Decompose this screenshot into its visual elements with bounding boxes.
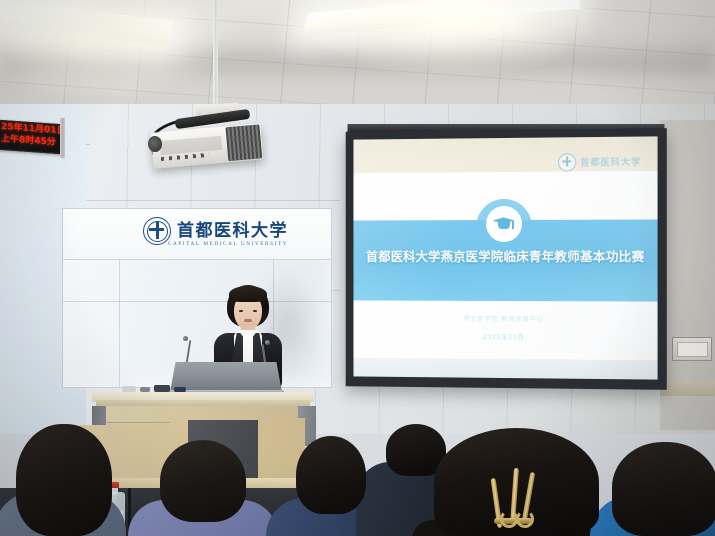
speaker-eye-left xyxy=(239,310,243,312)
slide-university-logo: 首都医科大学 xyxy=(558,152,641,171)
projector-label xyxy=(159,136,222,155)
microphone-head-2 xyxy=(265,340,270,345)
slide-subtitle: 燕京医学院 教师发展中心 xyxy=(353,314,657,325)
projector-mount-pipe xyxy=(213,0,218,108)
university-crest-icon xyxy=(143,217,171,245)
audience-hair-2 xyxy=(160,440,246,522)
speaker-mouth xyxy=(244,319,252,322)
ceiling xyxy=(0,0,715,120)
led-clock-display: 25年11月01日 上午8时45分 xyxy=(0,120,62,154)
podium-item-3 xyxy=(154,385,170,392)
audience-head-2 xyxy=(160,440,246,522)
graduation-cap-icon xyxy=(493,216,515,232)
audience-head-1 xyxy=(16,424,112,536)
audience-hair-3 xyxy=(296,436,366,514)
projection-screen-surface: 首都医科大学 首都医科大学燕京医学院临床青年教师基本功比赛 燕京医学院 教师发展… xyxy=(353,136,657,379)
slide-crest-icon xyxy=(558,153,576,171)
university-name-en: CAPITAL MEDICAL UNIVERSITY xyxy=(168,241,288,247)
projection-screen-frame: 首都医科大学 首都医科大学燕京医学院临床青年教师基本功比赛 燕京医学院 教师发展… xyxy=(346,128,667,390)
speaker-eye-right xyxy=(253,310,257,312)
graduation-cap-badge xyxy=(486,206,522,242)
presentation-slide: 首都医科大学 首都医科大学燕京医学院临床青年教师基本功比赛 燕京医学院 教师发展… xyxy=(353,136,657,379)
gold-hair-clip xyxy=(492,468,540,530)
lecture-hall-photo: 25年11月01日 上午8时45分 首都医科大学 CAPITAL MEDICAL… xyxy=(0,0,715,536)
microphone-head-1 xyxy=(183,336,188,341)
university-name-cn: 首都医科大学 xyxy=(177,223,288,240)
speaker-hair-fringe xyxy=(229,286,267,302)
projector-vent xyxy=(225,124,262,161)
audience-head-3 xyxy=(296,436,366,514)
wall-baseboard-right xyxy=(660,380,715,396)
audience-head-6 xyxy=(612,442,715,536)
led-mount-post xyxy=(60,118,65,158)
slide-logo-text: 首都医科大学 xyxy=(580,155,641,169)
slide-bottom-band xyxy=(353,357,657,379)
whiteboard-logo-banner: 首都医科大学 CAPITAL MEDICAL UNIVERSITY xyxy=(63,209,331,260)
slide-title: 首都医科大学燕京医学院临床青年教师基本功比赛 xyxy=(353,246,657,265)
wall-control-panel[interactable] xyxy=(672,337,712,361)
whiteboard-seam-v1 xyxy=(119,259,120,387)
whiteboard: 首都医科大学 CAPITAL MEDICAL UNIVERSITY xyxy=(62,208,332,388)
audience-hair-6 xyxy=(612,442,715,536)
audience-hair-1 xyxy=(16,424,112,536)
